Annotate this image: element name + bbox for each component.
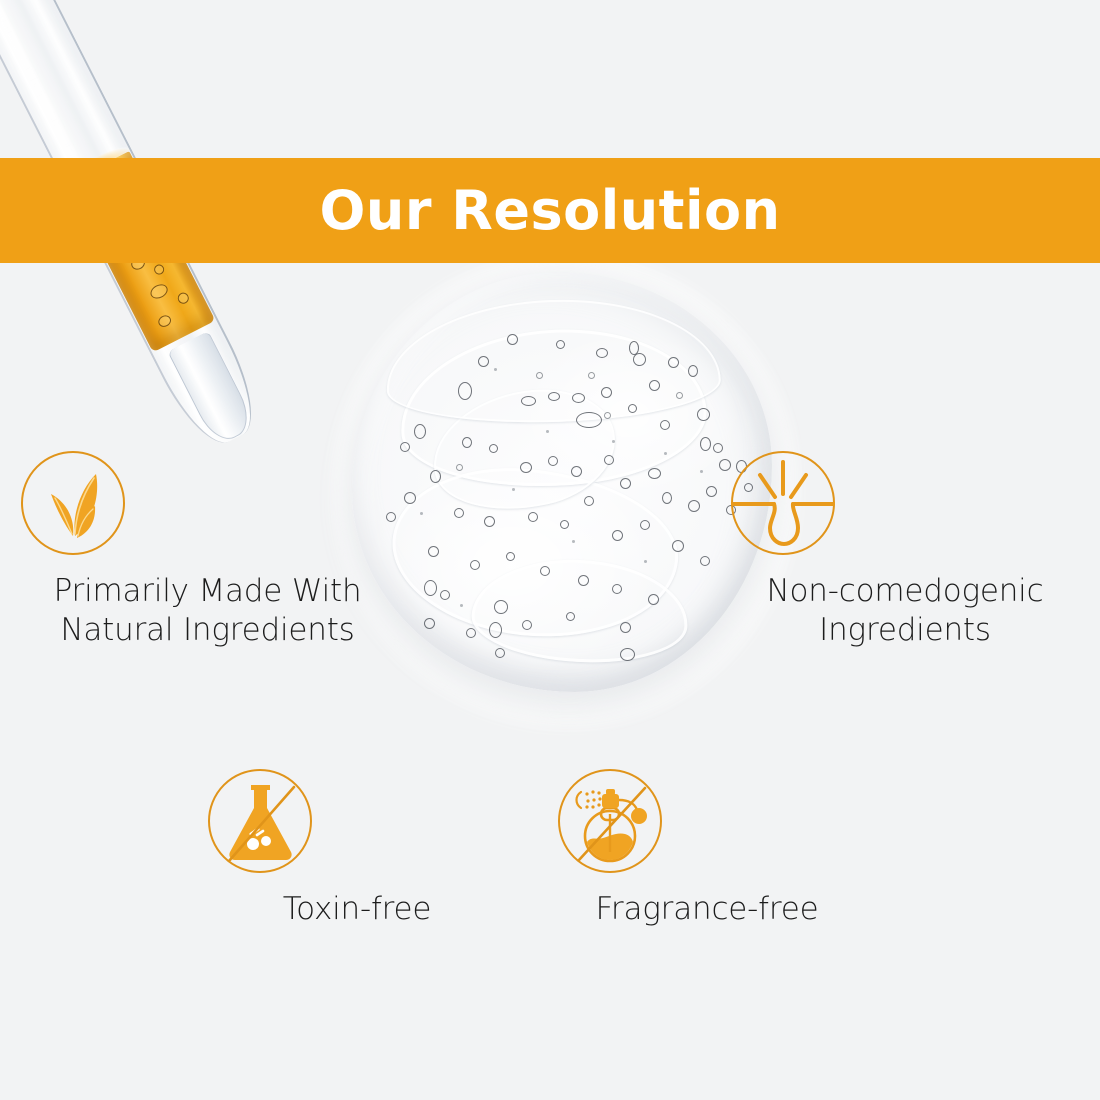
gel-bubble bbox=[556, 340, 565, 349]
gel-bubble bbox=[572, 393, 585, 403]
leaves-icon bbox=[20, 450, 395, 556]
no-flask-icon bbox=[207, 768, 507, 874]
gel-speck bbox=[512, 488, 515, 491]
gel-bubble bbox=[604, 412, 611, 419]
gel-bubble bbox=[540, 566, 550, 576]
gel-bubble bbox=[548, 392, 560, 401]
gel-bubble bbox=[697, 408, 710, 421]
gel-bubble bbox=[466, 628, 476, 638]
gel-bubble bbox=[578, 575, 589, 586]
gel-bubble bbox=[629, 341, 639, 355]
gel-bubble bbox=[620, 478, 631, 489]
gel-bubble bbox=[506, 552, 515, 561]
gel-bubble bbox=[648, 468, 661, 479]
no-perfume-bottle-icon bbox=[557, 768, 857, 874]
gel-bubble bbox=[713, 443, 723, 453]
gel-speck bbox=[644, 560, 647, 563]
gel-bubble bbox=[596, 348, 608, 358]
gel-bubble bbox=[424, 618, 435, 629]
gel-speck bbox=[664, 452, 667, 455]
gel-bubble bbox=[489, 444, 498, 453]
gel-speck bbox=[494, 368, 497, 371]
gel-bubble bbox=[536, 372, 543, 379]
gel-bubble bbox=[688, 500, 700, 512]
gel-bubble bbox=[601, 387, 612, 398]
gel-bubble bbox=[668, 357, 679, 368]
gel-bubble bbox=[489, 622, 502, 638]
gel-bubble bbox=[700, 437, 711, 451]
gel-bubble bbox=[662, 492, 672, 504]
feature-non-comedogenic: Non-comedogenic Ingredients bbox=[730, 450, 1080, 650]
gel-bubble bbox=[676, 392, 683, 399]
gel-speck bbox=[420, 512, 423, 515]
gel-bubble bbox=[548, 456, 558, 466]
gel-speck bbox=[546, 430, 549, 433]
gel-swirl bbox=[469, 554, 690, 667]
gel-swirl bbox=[384, 294, 722, 428]
gel-bubble bbox=[560, 520, 569, 529]
pipette-tip bbox=[167, 331, 257, 447]
gel-bubble bbox=[566, 612, 575, 621]
gel-swirl bbox=[395, 320, 711, 497]
gel-bubble bbox=[440, 590, 450, 600]
gel-bubble bbox=[454, 508, 464, 518]
oil-bubble bbox=[148, 282, 170, 302]
gel-speck bbox=[700, 470, 703, 473]
page-title: Our Resolution bbox=[0, 158, 1100, 263]
feature-natural-ingredients: Primarily Made With Natural Ingredients bbox=[20, 450, 395, 650]
gel-swirl bbox=[422, 374, 626, 526]
gel-bubble bbox=[672, 540, 684, 552]
gel-bubble bbox=[612, 530, 623, 541]
gel-swirl bbox=[384, 456, 686, 651]
gel-bubble bbox=[612, 584, 622, 594]
gel-bubble bbox=[628, 404, 637, 413]
header-banner: Our Resolution bbox=[0, 158, 1100, 263]
gel-bubble bbox=[404, 492, 416, 504]
gel-bubble bbox=[648, 594, 659, 605]
gel-bubble bbox=[620, 622, 631, 633]
feature-fragrance-free: Fragrance-free bbox=[557, 768, 857, 929]
gel-speck bbox=[572, 540, 575, 543]
gel-bubble bbox=[400, 442, 410, 452]
gel-bubble bbox=[494, 600, 508, 614]
gel-bubble bbox=[456, 464, 463, 471]
gel-bubble bbox=[478, 356, 489, 367]
gel-bubble bbox=[520, 462, 532, 473]
gel-bubble bbox=[706, 486, 717, 497]
gel-bubble bbox=[688, 365, 698, 377]
gel-bubble bbox=[458, 382, 472, 400]
gel-bubble bbox=[495, 648, 505, 658]
gel-droplet bbox=[352, 272, 772, 692]
gel-bubble bbox=[571, 466, 582, 477]
gel-bubble bbox=[700, 556, 710, 566]
pore-follicle-icon bbox=[730, 450, 1080, 556]
gel-bubble bbox=[640, 520, 650, 530]
feature-label: Fragrance-free bbox=[557, 890, 857, 929]
gel-bubble bbox=[430, 470, 441, 483]
feature-toxin-free: Toxin-free bbox=[207, 768, 507, 929]
gel-bubble bbox=[424, 580, 437, 596]
gel-bubble bbox=[428, 546, 439, 557]
gel-bubble bbox=[588, 372, 595, 379]
gel-bubble bbox=[649, 380, 660, 391]
oil-bubble bbox=[176, 291, 191, 306]
feature-label: Toxin-free bbox=[207, 890, 507, 929]
gel-speck bbox=[612, 440, 615, 443]
product-infographic: Our Resolution Primarily Made With Natur… bbox=[0, 0, 1100, 1100]
gel-speck bbox=[460, 604, 463, 607]
gel-bubble bbox=[521, 396, 536, 406]
feature-label: Non-comedogenic Ingredients bbox=[730, 572, 1080, 650]
gel-bubble bbox=[604, 455, 614, 465]
gel-bubble bbox=[584, 496, 594, 506]
gel-bubble bbox=[462, 437, 472, 448]
gel-bubble bbox=[470, 560, 480, 570]
gel-bubble bbox=[484, 516, 495, 527]
gel-bubble bbox=[660, 420, 670, 430]
gel-bubble bbox=[576, 412, 602, 428]
gel-bubble bbox=[633, 353, 646, 366]
oil-bubble bbox=[152, 263, 165, 276]
gel-bubble bbox=[414, 424, 426, 439]
gel-bubble bbox=[620, 648, 635, 661]
feature-label: Primarily Made With Natural Ingredients bbox=[20, 572, 395, 650]
gel-bubble bbox=[507, 334, 518, 345]
oil-bubble bbox=[156, 313, 173, 329]
gel-bubble bbox=[528, 512, 538, 522]
gel-bubble bbox=[522, 620, 532, 630]
